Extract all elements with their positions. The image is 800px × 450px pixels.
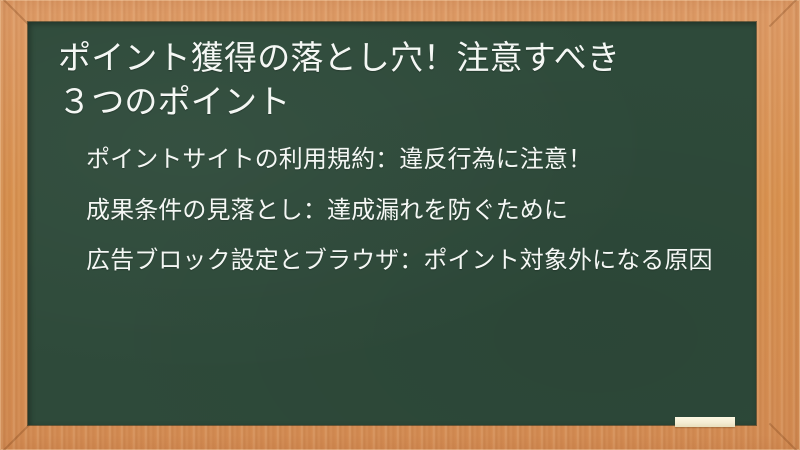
board-title: ポイント獲得の落とし穴！注意すべき ３つのポイント <box>58 36 726 124</box>
board-point-list: ポイントサイトの利用規約：違反行為に注意！ 成果条件の見落とし：達成漏れを防ぐた… <box>58 142 726 276</box>
chalkboard-frame: ポイント獲得の落とし穴！注意すべき ３つのポイント ポイントサイトの利用規約：違… <box>0 0 800 450</box>
frame-miter-top-right <box>769 0 800 27</box>
chalkboard-surface: ポイント獲得の落とし穴！注意すべき ３つのポイント ポイントサイトの利用規約：違… <box>28 22 756 425</box>
list-item: ポイントサイトの利用規約：違反行為に注意！ <box>86 142 726 176</box>
frame-miter-bottom-left <box>0 423 31 450</box>
frame-miter-top-left <box>0 0 31 27</box>
list-item: 広告ブロック設定とブラウザ：ポイント対象外になる原因 <box>86 243 726 277</box>
chalk-stick-icon <box>675 417 735 427</box>
list-item: 成果条件の見落とし：達成漏れを防ぐために <box>86 193 726 227</box>
frame-miter-bottom-right <box>769 423 800 450</box>
